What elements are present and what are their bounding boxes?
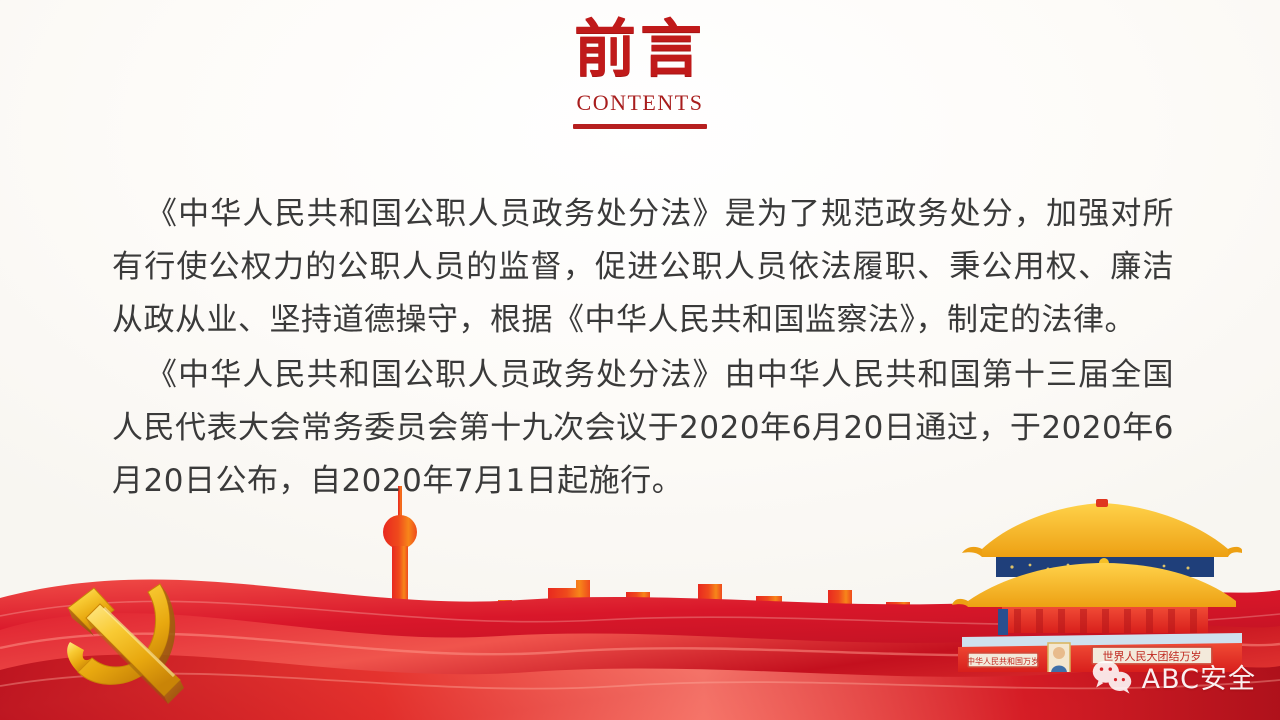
- gate-banner-left: 中华人民共和国万岁: [967, 653, 1039, 667]
- body-text: 《中华人民共和国公职人员政务处分法》是为了规范政务处分，加强对所有行使公权力的公…: [112, 188, 1174, 510]
- cpc-emblem-icon: [48, 562, 208, 712]
- slide-root: 前言 CONTENTS 《中华人民共和国公职人员政务处分法》是为了规范政务处分，…: [0, 0, 1280, 720]
- paragraph-1: 《中华人民共和国公职人员政务处分法》是为了规范政务处分，加强对所有行使公权力的公…: [112, 188, 1174, 347]
- hammer-and-sickle-svg: [48, 562, 208, 712]
- title-underline: [573, 124, 707, 129]
- watermark-label: ABC安全: [1142, 657, 1256, 696]
- page-subtitle: CONTENTS: [0, 90, 1280, 116]
- tiananmen-gate-illustration: 中华人民共和国万岁 世界人民大团结万岁: [952, 497, 1242, 672]
- gate-upper-roof: [982, 503, 1228, 557]
- watermark: ABC安全: [1091, 657, 1256, 696]
- page-title: 前言: [0, 18, 1280, 80]
- gate-banner-left-text: 中华人民共和国万岁: [967, 656, 1039, 666]
- slide-header: 前言 CONTENTS: [0, 18, 1280, 129]
- paragraph-2: 《中华人民共和国公职人员政务处分法》由中华人民共和国第十三届全国人民代表大会常务…: [112, 349, 1174, 508]
- wechat-icon: [1091, 660, 1133, 694]
- gate-portrait: [1048, 643, 1070, 672]
- tiananmen-svg: 中华人民共和国万岁 世界人民大团结万岁: [952, 497, 1242, 672]
